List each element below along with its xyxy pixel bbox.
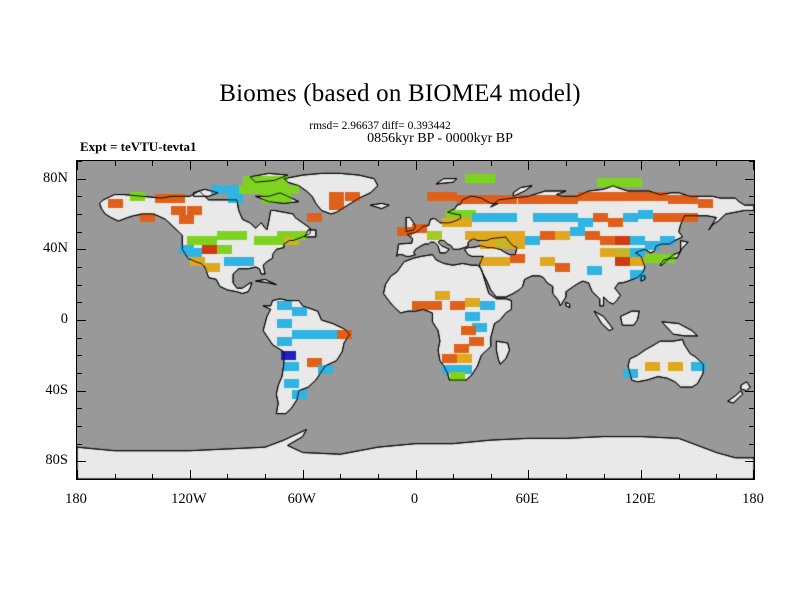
x-minor-tick (453, 474, 454, 479)
x-major-tick (641, 161, 642, 170)
y-minor-tick (749, 232, 754, 233)
x-major-tick (77, 470, 78, 479)
x-minor-tick (340, 474, 341, 479)
y-minor-tick (77, 285, 82, 286)
y-minor-tick (749, 214, 754, 215)
y-major-tick (77, 461, 86, 462)
x-minor-tick (604, 474, 605, 479)
y-major-tick (745, 461, 754, 462)
figure-root: Biomes (based on BIOME4 model) rmsd= 2.9… (0, 0, 800, 600)
x-minor-tick (115, 161, 116, 166)
x-minor-tick (679, 161, 680, 166)
x-minor-tick (378, 161, 379, 166)
y-minor-tick (749, 408, 754, 409)
x-tick-label: 120E (605, 492, 675, 506)
y-minor-tick (77, 444, 82, 445)
x-minor-tick (265, 161, 266, 166)
x-major-tick (416, 470, 417, 479)
y-axis: 80N40N040S80S (12, 160, 68, 480)
y-major-tick (77, 320, 86, 321)
x-axis: 180120W60W060E120E180 (76, 486, 755, 506)
x-minor-tick (340, 161, 341, 166)
x-minor-tick (716, 474, 717, 479)
x-tick-label: 0 (380, 492, 450, 506)
x-tick-label: 180 (41, 492, 111, 506)
x-major-tick (77, 161, 78, 170)
x-major-tick (303, 161, 304, 170)
x-major-tick (641, 470, 642, 479)
x-major-tick (416, 161, 417, 170)
x-minor-tick (115, 474, 116, 479)
x-minor-tick (152, 161, 153, 166)
y-minor-tick (749, 338, 754, 339)
x-major-tick (190, 470, 191, 479)
x-minor-tick (453, 161, 454, 166)
x-major-tick (528, 161, 529, 170)
y-minor-tick (77, 355, 82, 356)
experiment-label: Expt = teVTU-tevta1 (80, 139, 196, 154)
y-minor-tick (749, 302, 754, 303)
y-minor-tick (77, 214, 82, 215)
y-minor-tick (749, 355, 754, 356)
y-minor-tick (77, 302, 82, 303)
x-minor-tick (227, 161, 228, 166)
page-title: Biomes (based on BIOME4 model) (0, 80, 800, 108)
x-minor-tick (566, 474, 567, 479)
y-minor-tick (749, 285, 754, 286)
y-minor-tick (749, 196, 754, 197)
y-tick-label: 40N (16, 241, 68, 255)
x-minor-tick (378, 474, 379, 479)
x-major-tick (190, 161, 191, 170)
y-minor-tick (77, 232, 82, 233)
y-minor-tick (749, 444, 754, 445)
x-minor-tick (491, 474, 492, 479)
y-minor-tick (77, 267, 82, 268)
y-major-tick (745, 249, 754, 250)
x-minor-tick (604, 161, 605, 166)
x-tick-label: 180 (718, 492, 788, 506)
y-tick-label: 0 (16, 312, 68, 326)
x-major-tick (303, 470, 304, 479)
period-annotation: 0856kyr BP - 0000kyr BP (240, 131, 640, 147)
y-minor-tick (77, 479, 82, 480)
y-minor-tick (749, 426, 754, 427)
y-major-tick (77, 391, 86, 392)
map-plot-area (76, 160, 755, 480)
y-major-tick (745, 320, 754, 321)
y-tick-label: 80N (16, 171, 68, 185)
y-major-tick (77, 249, 86, 250)
y-tick-label: 80S (16, 453, 68, 467)
y-major-tick (77, 179, 86, 180)
x-major-tick (753, 161, 754, 170)
biome-difference-map (77, 161, 754, 479)
x-minor-tick (566, 161, 567, 166)
x-minor-tick (716, 161, 717, 166)
y-major-tick (745, 179, 754, 180)
y-major-tick (745, 391, 754, 392)
y-minor-tick (749, 373, 754, 374)
y-minor-tick (749, 267, 754, 268)
x-minor-tick (265, 474, 266, 479)
x-minor-tick (227, 474, 228, 479)
x-tick-label: 60E (492, 492, 562, 506)
y-minor-tick (77, 196, 82, 197)
y-minor-tick (749, 479, 754, 480)
x-minor-tick (152, 474, 153, 479)
y-minor-tick (77, 426, 82, 427)
x-tick-label: 60W (267, 492, 337, 506)
x-minor-tick (679, 474, 680, 479)
y-minor-tick (77, 408, 82, 409)
y-minor-tick (77, 338, 82, 339)
x-major-tick (528, 470, 529, 479)
x-major-tick (753, 470, 754, 479)
y-tick-label: 40S (16, 383, 68, 397)
y-minor-tick (77, 373, 82, 374)
x-tick-label: 120W (154, 492, 224, 506)
x-minor-tick (491, 161, 492, 166)
